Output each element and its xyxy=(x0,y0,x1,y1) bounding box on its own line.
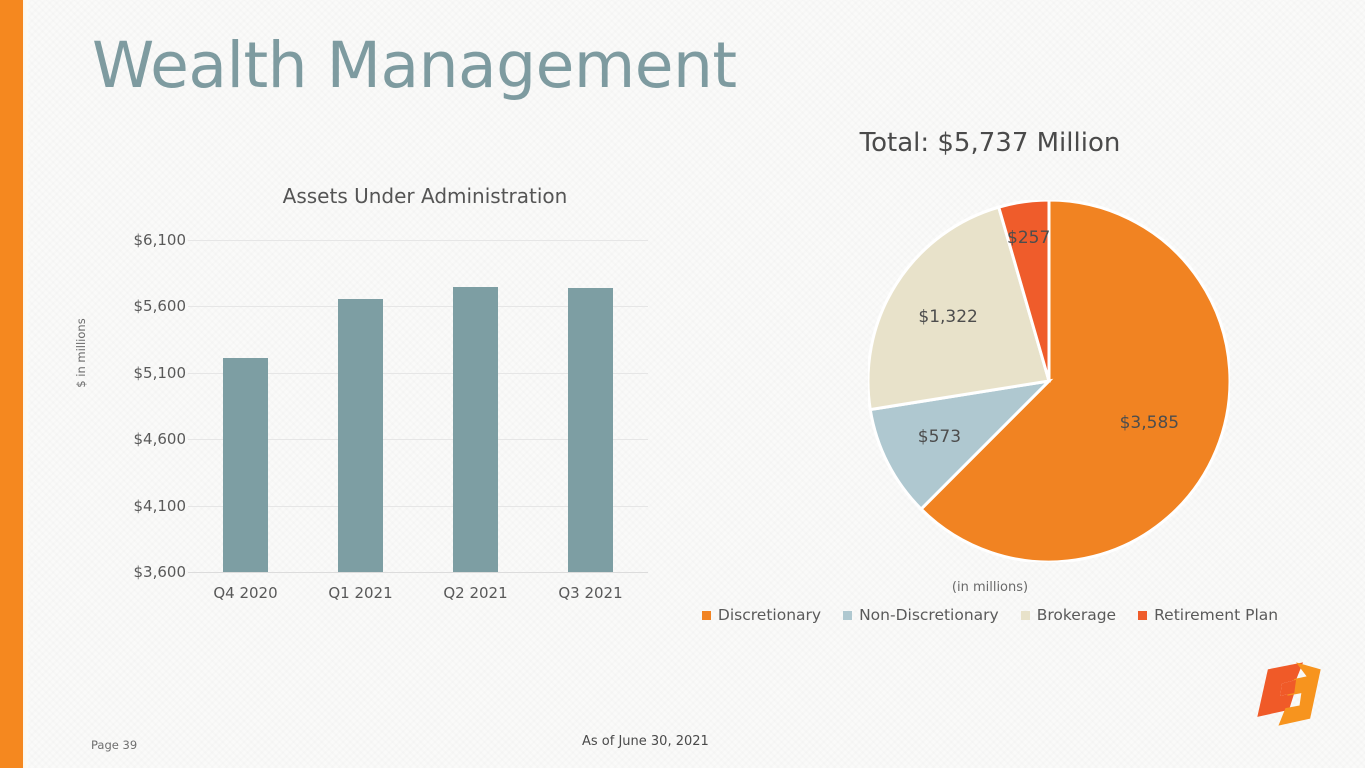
bar-chart-gridline xyxy=(188,240,648,241)
company-logo-icon xyxy=(1243,650,1335,738)
legend-swatch-icon xyxy=(702,611,711,620)
pie-chart-data-label: $1,322 xyxy=(918,307,977,327)
bar-chart: Assets Under Administration $ in million… xyxy=(60,178,680,608)
as-of-date: As of June 30, 2021 xyxy=(582,734,709,749)
accent-stripe xyxy=(0,0,23,768)
bar-chart-gridline xyxy=(188,572,648,573)
pie-chart-legend: DiscretionaryNon-DiscretionaryBrokerageR… xyxy=(690,606,1290,624)
legend-label: Brokerage xyxy=(1037,606,1116,624)
pie-chart-data-label: $3,585 xyxy=(1120,413,1179,433)
bar-chart-y-tick-label: $4,100 xyxy=(76,497,186,515)
bar-chart-y-tick-label: $4,600 xyxy=(76,430,186,448)
pie-chart: Total: $5,737 Million $3,585$573$1,322$2… xyxy=(690,118,1310,638)
bar-chart-x-tick-label: Q2 2021 xyxy=(421,584,531,602)
bar-chart-y-tick-label: $5,600 xyxy=(76,297,186,315)
bar-chart-bar xyxy=(568,288,613,572)
accent-stripe-edge xyxy=(23,0,30,768)
legend-label: Non-Discretionary xyxy=(859,606,999,624)
legend-swatch-icon xyxy=(1138,611,1147,620)
pie-chart-data-label: $257 xyxy=(1007,228,1050,248)
pie-chart-plot-area: $3,585$573$1,322$257 xyxy=(868,200,1230,562)
page-number: Page 39 xyxy=(91,738,137,752)
pie-chart-subtitle: (in millions) xyxy=(690,580,1290,595)
page-title: Wealth Management xyxy=(92,33,737,99)
pie-chart-legend-item: Discretionary xyxy=(702,606,821,624)
bar-chart-plot-area: $3,600$4,100$4,600$5,100$5,600$6,100Q4 2… xyxy=(188,240,648,572)
bar-chart-bar xyxy=(223,358,268,572)
bar-chart-bar xyxy=(453,287,498,572)
pie-chart-svg xyxy=(868,200,1230,562)
bar-chart-bar xyxy=(338,299,383,572)
legend-swatch-icon xyxy=(843,611,852,620)
bar-chart-x-tick-label: Q3 2021 xyxy=(536,584,646,602)
pie-chart-title: Total: $5,737 Million xyxy=(690,128,1290,158)
slide-canvas: Wealth Management Assets Under Administr… xyxy=(0,0,1365,768)
legend-label: Discretionary xyxy=(718,606,821,624)
bar-chart-y-tick-label: $5,100 xyxy=(76,364,186,382)
bar-chart-y-tick-label: $3,600 xyxy=(76,563,186,581)
bar-chart-title: Assets Under Administration xyxy=(60,184,680,208)
pie-chart-legend-item: Brokerage xyxy=(1021,606,1116,624)
pie-chart-data-label: $573 xyxy=(918,427,961,447)
bar-chart-x-tick-label: Q4 2020 xyxy=(191,584,301,602)
bar-chart-y-tick-label: $6,100 xyxy=(76,231,186,249)
pie-chart-legend-item: Retirement Plan xyxy=(1138,606,1278,624)
legend-swatch-icon xyxy=(1021,611,1030,620)
bar-chart-x-tick-label: Q1 2021 xyxy=(306,584,416,602)
pie-chart-legend-item: Non-Discretionary xyxy=(843,606,999,624)
legend-label: Retirement Plan xyxy=(1154,606,1278,624)
